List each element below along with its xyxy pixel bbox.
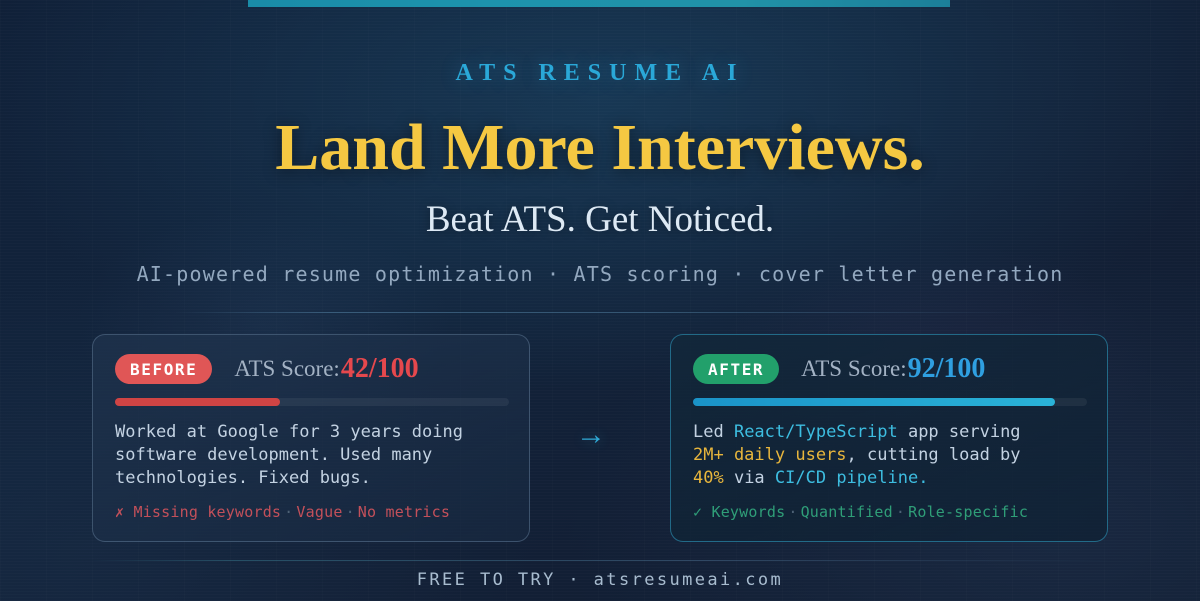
before-resume-text: Worked at Google for 3 years doingsoftwa… [115,421,507,490]
footer-cta: FREE TO TRY · atsresumeai.com [0,570,1200,590]
tag-label: Vague [296,503,342,521]
before-card-header: BEFORE ATS Score: 42/100 [115,353,507,385]
tag-label: No metrics [358,503,450,521]
after-badge: AFTER [693,354,779,384]
before-score-bar-track [115,398,509,406]
after-score-label: ATS Score: [801,356,906,382]
resume-text-segment: 40% [693,468,724,488]
tag-label: Missing keywords [133,503,281,521]
brand-eyebrow: ATS RESUME AI [0,60,1200,87]
tag-separator: · [281,503,296,521]
resume-text-line: technologies. Fixed bugs. [115,467,507,490]
resume-text-line: 2M+ daily users, cutting load by [693,444,1085,467]
before-score-label: ATS Score: [234,356,339,382]
resume-text-line: 40% via CI/CD pipeline. [693,467,1085,490]
tag-marker-icon: ✓ [693,503,711,521]
resume-text-segment: Led [693,422,734,442]
page-subtitle: Beat ATS. Get Noticed. [0,196,1200,244]
divider-above-footer [90,560,1110,561]
resume-text-line: Worked at Google for 3 years doing [115,421,507,444]
before-card: BEFORE ATS Score: 42/100 Worked at Googl… [92,334,530,542]
resume-text-segment: app serving [898,422,1021,442]
after-score-value: 92/100 [908,353,986,385]
resume-text-segment: 2M+ daily users [693,445,847,465]
resume-text-segment: software development. Used many [115,445,432,465]
resume-text-segment: Worked at Google for 3 years doing [115,422,463,442]
tag-label: Keywords [711,503,785,521]
resume-text-segment: CI/CD pipeline. [775,468,929,488]
divider-above-cards [175,312,1035,313]
tag-separator: · [893,503,908,521]
resume-text-segment: React/TypeScript [734,422,898,442]
resume-text-segment: via [724,468,775,488]
after-card: AFTER ATS Score: 92/100 Led React/TypeSc… [670,334,1108,542]
resume-text-line: software development. Used many [115,444,507,467]
resume-text-segment: , cutting load by [847,445,1021,465]
hero-background: ATS RESUME AI Land More Interviews. Beat… [0,0,1200,601]
after-strength-tags: ✓ Keywords·Quantified·Role-specific [693,503,1028,521]
after-card-header: AFTER ATS Score: 92/100 [693,353,1085,385]
arrow-right-icon: → [566,420,616,450]
resume-text-segment: technologies. Fixed bugs. [115,468,371,488]
tag-separator: · [785,503,800,521]
tag-separator: · [343,503,358,521]
tag-label: Role-specific [908,503,1028,521]
resume-text-line: Led React/TypeScript app serving [693,421,1085,444]
before-score-bar-fill [115,398,280,406]
after-score-bar-track [693,398,1087,406]
comparison-section: BEFORE ATS Score: 42/100 Worked at Googl… [0,334,1200,542]
tag-marker-icon: ✗ [115,503,133,521]
before-weakness-tags: ✗ Missing keywords·Vague·No metrics [115,503,450,521]
top-accent-bar [248,0,950,7]
page-title: Land More Interviews. [0,110,1200,186]
after-score-bar-fill [693,398,1055,406]
tag-label: Quantified [801,503,893,521]
feature-list: AI-powered resume optimization · ATS sco… [0,262,1200,286]
before-badge: BEFORE [115,354,212,384]
before-score-value: 42/100 [341,353,419,385]
after-resume-text: Led React/TypeScript app serving2M+ dail… [693,421,1085,490]
